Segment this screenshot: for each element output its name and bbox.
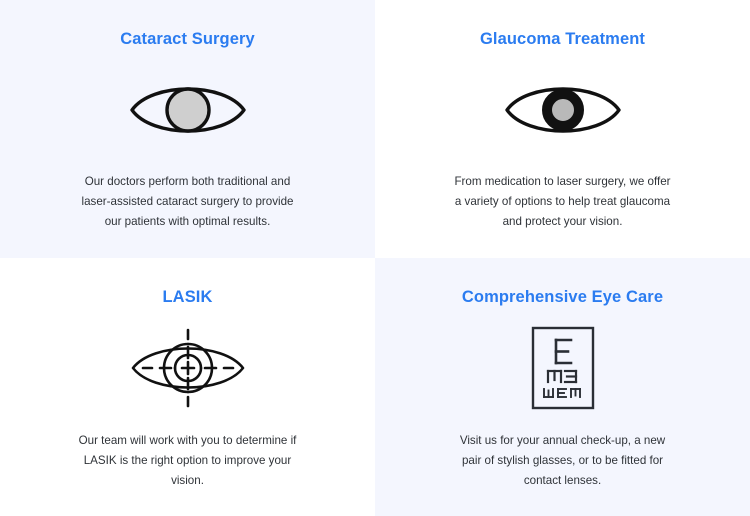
eye-cloudy-lens-icon <box>126 70 250 150</box>
service-card-comprehensive-eye-care[interactable]: Comprehensive Eye Care <box>375 258 750 516</box>
service-title: Comprehensive Eye Care <box>462 288 663 308</box>
service-title: Cataract Surgery <box>120 30 255 50</box>
service-description: Visit us for your annual check-up, a new… <box>452 431 674 492</box>
service-card-lasik[interactable]: LASIK <box>0 258 375 516</box>
snellen-eye-chart-icon <box>531 325 595 411</box>
service-description: Our team will work with you to determine… <box>77 431 299 492</box>
services-grid: Cataract Surgery Our doctors perform bot… <box>0 0 750 516</box>
service-title: Glaucoma Treatment <box>480 30 645 50</box>
service-card-glaucoma-treatment[interactable]: Glaucoma Treatment From medication to la… <box>375 0 750 258</box>
service-description: From medication to laser surgery, we off… <box>450 172 675 233</box>
service-description: Our doctors perform both traditional and… <box>75 172 300 233</box>
eye-crosshair-target-icon <box>126 325 250 411</box>
service-card-cataract-surgery[interactable]: Cataract Surgery Our doctors perform bot… <box>0 0 375 258</box>
eye-thick-pupil-icon <box>501 70 625 150</box>
service-title: LASIK <box>163 288 213 308</box>
